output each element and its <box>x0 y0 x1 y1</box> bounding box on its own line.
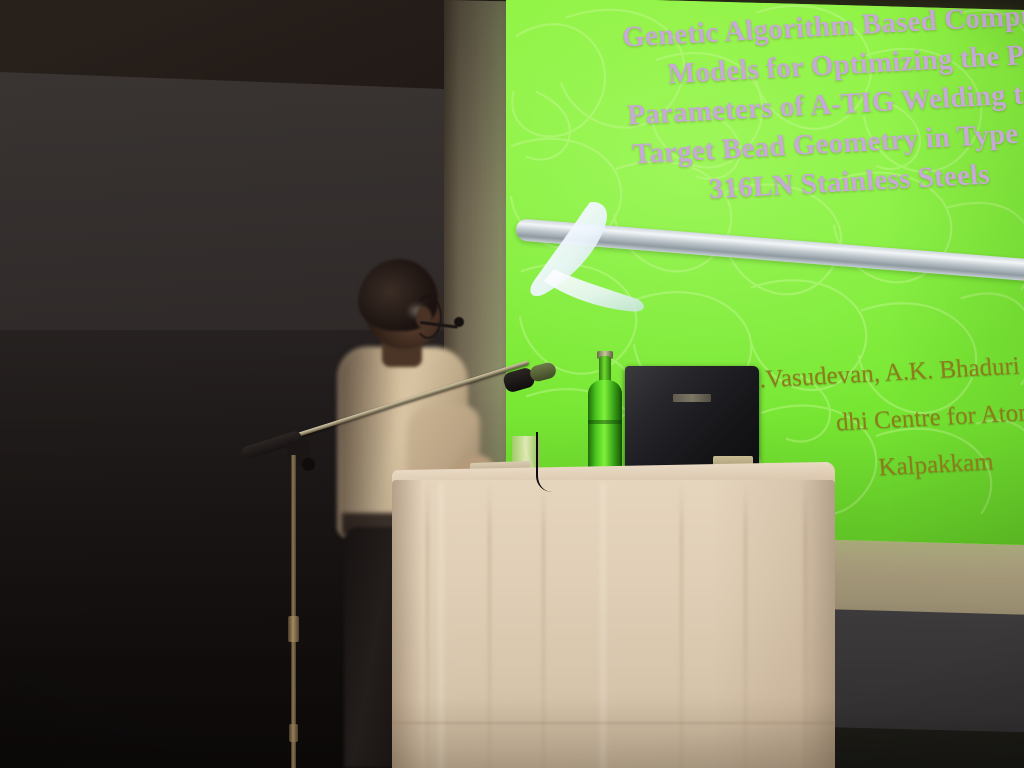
water-bottle <box>588 356 622 478</box>
headset-capsule-icon <box>454 317 464 327</box>
slide-title: Genetic Algorithm Based Computat Models … <box>516 0 1024 219</box>
podium-table <box>392 466 835 768</box>
stand-lower-collar <box>289 724 298 742</box>
presentation-photo-scene: Genetic Algorithm Based Computat Models … <box>0 0 1024 768</box>
bottle-body <box>588 380 622 478</box>
bottle-ring <box>588 420 622 424</box>
stand-height-collar <box>288 616 299 642</box>
microphone-cable <box>536 432 552 492</box>
stand-pole <box>291 455 296 768</box>
cloth-bottom-shadow <box>392 698 835 768</box>
boom-adjust-knob <box>302 458 315 471</box>
headset-band-icon <box>414 295 442 339</box>
laptop-logo-icon <box>673 394 711 402</box>
